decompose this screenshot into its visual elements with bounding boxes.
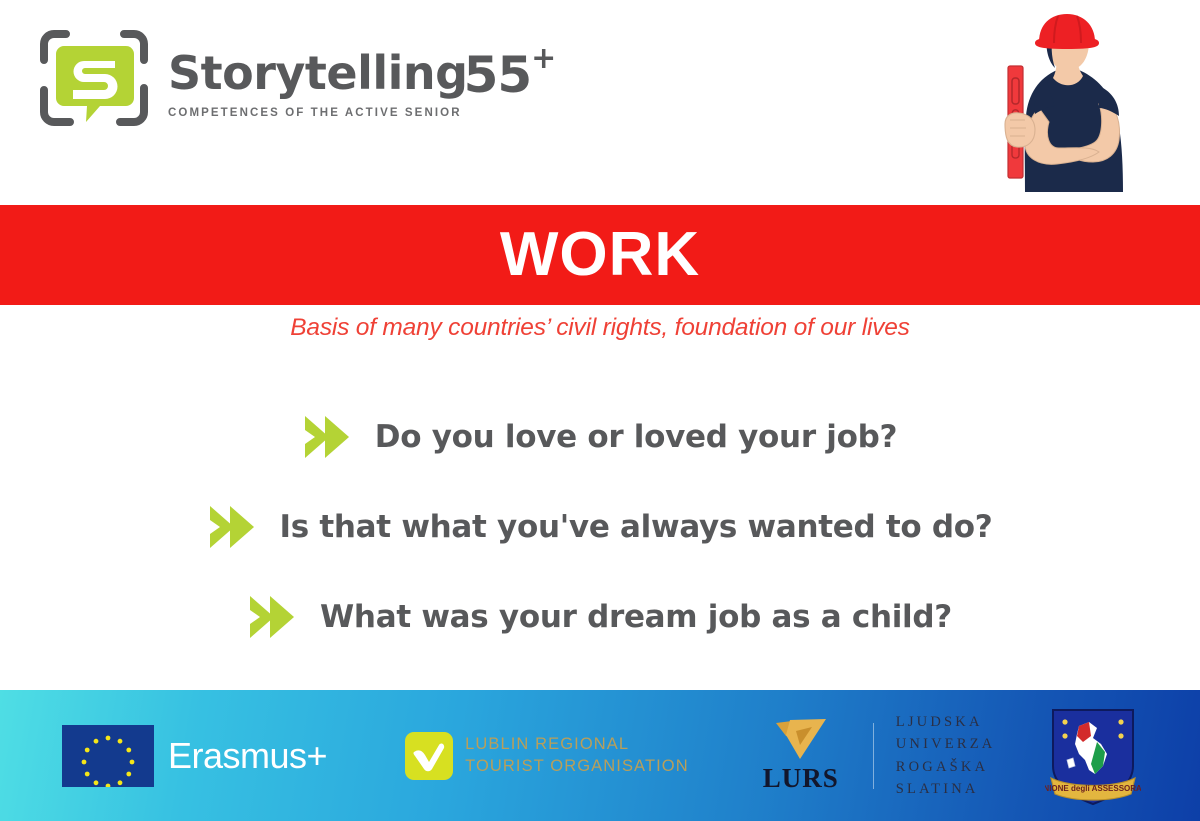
partner-logos-footer: Erasmus+ Lublin Regional Tourist Organis… (0, 690, 1200, 821)
question-row: Do you love or loved your job? (0, 392, 1200, 482)
chevron-right-bullet-icon (248, 594, 300, 640)
unione-ribbon-label: UNIONE degli ASSESSORATI (1045, 784, 1141, 793)
eu-flag-icon (62, 725, 154, 787)
lublin-text-block: Lublin Regional Tourist Organisation (465, 734, 689, 776)
brand-text-block: Storytelling 55 + COMPETENCES OF THE ACT… (168, 46, 556, 119)
erasmus-plus-label: Erasmus+ (168, 735, 327, 777)
chevron-right-bullet-icon (303, 414, 355, 460)
logo-erasmus-plus: Erasmus+ (62, 725, 327, 787)
logo-unione-degli-assessorati: UNIONE degli ASSESSORATI (1045, 704, 1141, 808)
lurs-gold-mark-icon (772, 717, 830, 761)
brand-plus: + (531, 44, 556, 74)
chevron-right-bullet-icon (208, 504, 260, 550)
lublin-line-1: Lublin Regional (465, 735, 629, 753)
brand-number: 55 (464, 50, 532, 100)
slide-header: Storytelling 55 + COMPETENCES OF THE ACT… (0, 0, 1200, 205)
questions-list: Do you love or loved your job? Is that w… (0, 392, 1200, 662)
question-text: Is that what you've always wanted to do? (280, 509, 993, 545)
slide-root: Storytelling 55 + COMPETENCES OF THE ACT… (0, 0, 1200, 821)
question-row: Is that what you've always wanted to do? (0, 482, 1200, 572)
page-title: WORK (500, 224, 700, 286)
brand-tagline: COMPETENCES OF THE ACTIVE SENIOR (168, 107, 556, 119)
question-text: What was your dream job as a child? (320, 599, 952, 635)
logo-lublin-regional-tourist-organisation: Lublin Regional Tourist Organisation (405, 732, 689, 780)
lublin-line-2: Tourist Organisation (465, 756, 689, 777)
work-title-banner: WORK (0, 205, 1200, 305)
subtitle: Basis of many countries’ civil rights, f… (0, 314, 1200, 342)
lurs-label: LURS (751, 763, 851, 794)
lublin-checkmark-icon (405, 732, 453, 780)
question-row: What was your dream job as a child? (0, 572, 1200, 662)
lurs-university-text: LJUDSKA UNIVERZA ROGAŠKA SLATINA (896, 711, 996, 801)
storytelling-speech-bubble-logo-icon (36, 26, 154, 138)
construction-worker-with-spirit-level-icon (995, 12, 1145, 192)
italy-shield-icon: UNIONE degli ASSESSORATI (1045, 704, 1141, 808)
question-text: Do you love or loved your job? (375, 419, 897, 455)
lurs-uni-line-2: UNIVERZA (896, 733, 996, 755)
lurs-uni-line-3: ROGAŠKA (896, 756, 996, 778)
lurs-divider (873, 723, 874, 789)
lurs-uni-line-4: SLATINA (896, 778, 996, 800)
brand-lockup: Storytelling 55 + COMPETENCES OF THE ACT… (36, 26, 556, 138)
brand-title: Storytelling (168, 50, 468, 96)
lurs-block: LURS (751, 717, 851, 794)
logo-lurs: LURS LJUDSKA UNIVERZA ROGAŠKA SLATINA (751, 711, 996, 801)
lurs-uni-line-1: LJUDSKA (896, 711, 996, 733)
